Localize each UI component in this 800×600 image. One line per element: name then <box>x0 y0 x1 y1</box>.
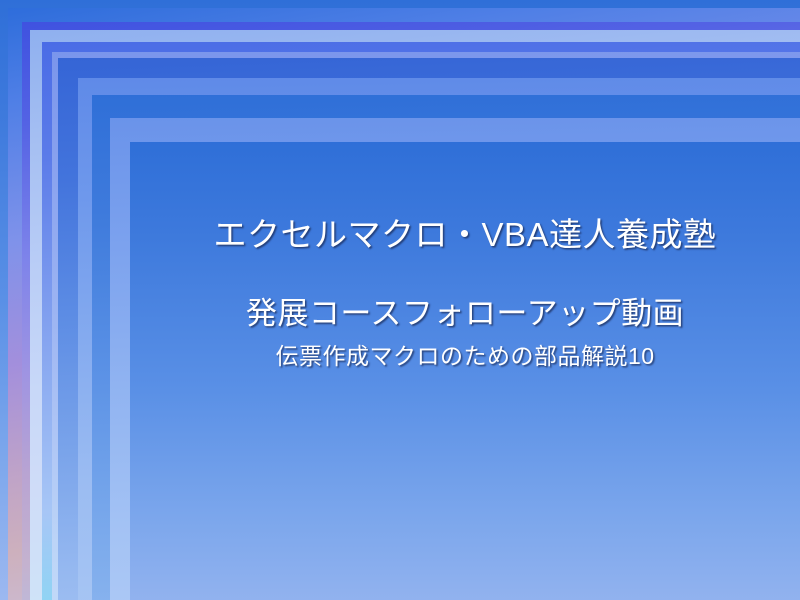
slide-title: エクセルマクロ・VBA達人養成塾 <box>213 214 716 255</box>
slide-subtitle-detail: 伝票作成マクロのための部品解説10 <box>275 342 654 372</box>
slide-subtitle: 発展コースフォローアップ動画 <box>246 295 684 334</box>
presentation-slide: エクセルマクロ・VBA達人養成塾 発展コースフォローアップ動画 伝票作成マクロの… <box>0 0 800 600</box>
slide-title-block: エクセルマクロ・VBA達人養成塾 発展コースフォローアップ動画 伝票作成マクロの… <box>130 142 800 600</box>
